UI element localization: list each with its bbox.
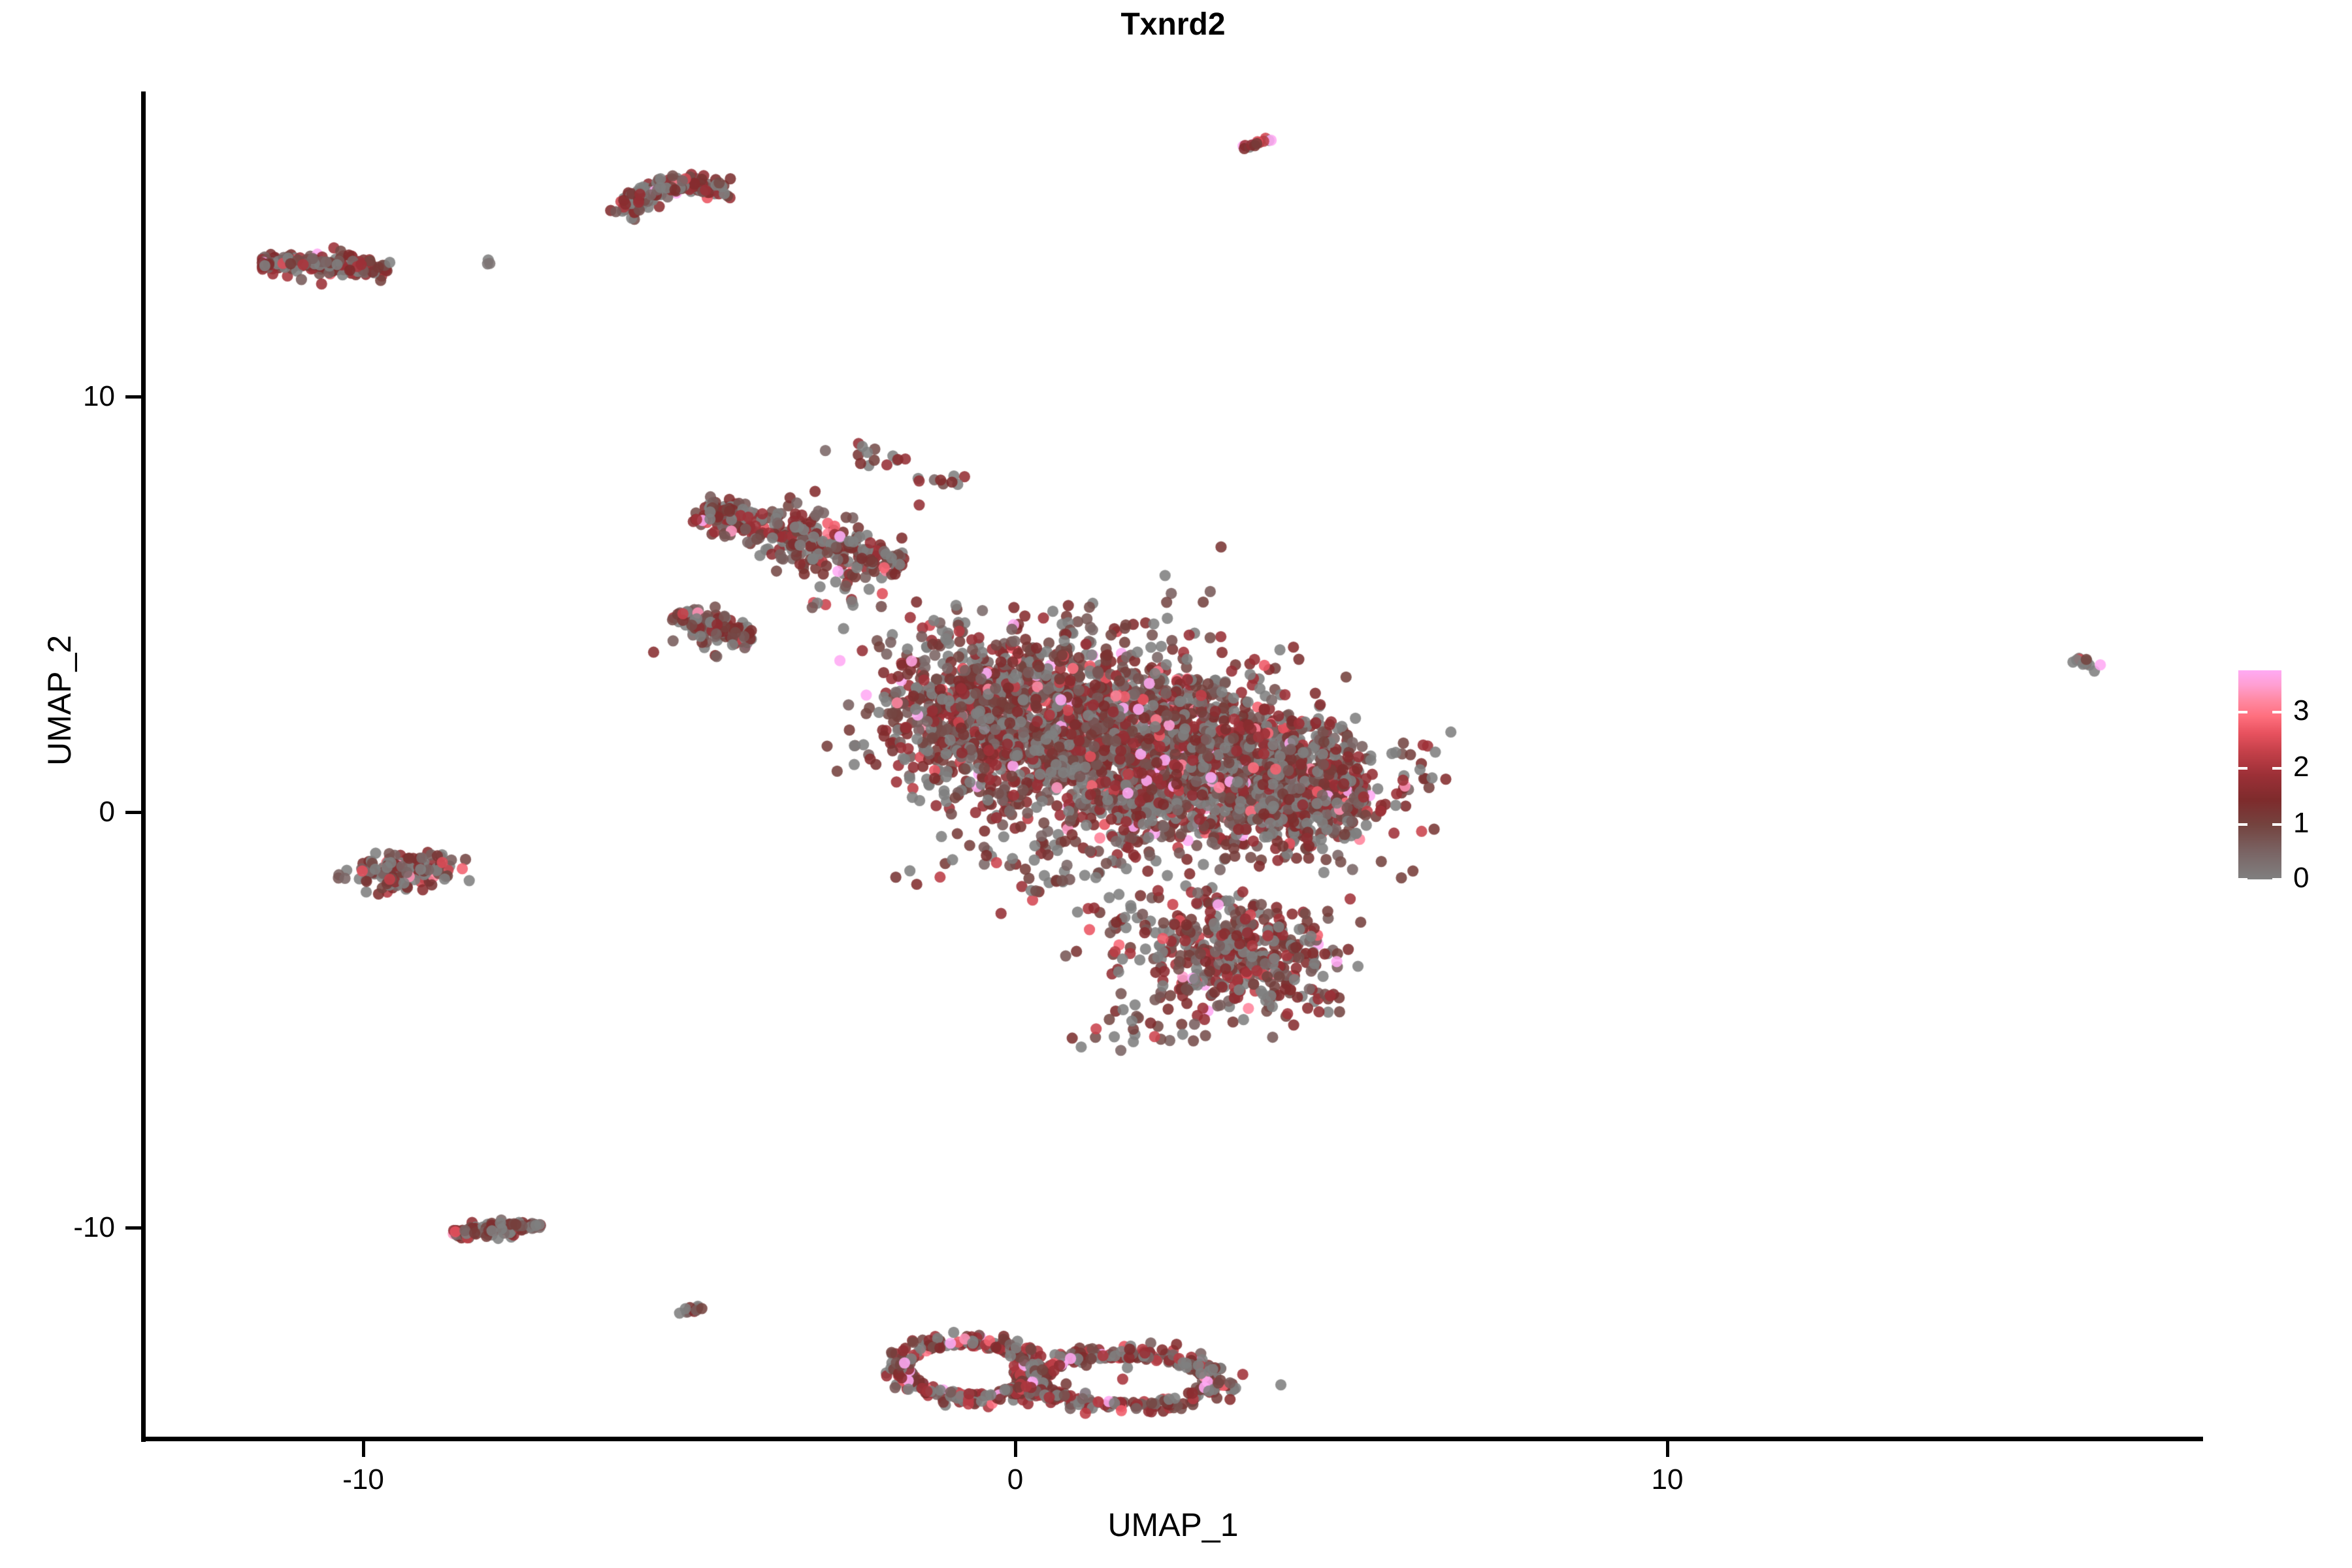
colorbar-tick-left-3 xyxy=(2238,711,2247,713)
x-axis-line xyxy=(141,1437,2203,1441)
colorbar-label-0: 0 xyxy=(2293,862,2309,894)
x-tick-mark-0 xyxy=(362,1441,365,1457)
colorbar-label-2: 2 xyxy=(2293,751,2309,783)
colorbar-label-1: 1 xyxy=(2293,807,2309,840)
colorbar-tick-right-2 xyxy=(2272,767,2281,770)
colorbar-tick-left-2 xyxy=(2238,767,2247,770)
colorbar-tick-left-1 xyxy=(2238,823,2247,826)
y-tick-label-2: -10 xyxy=(73,1211,115,1244)
y-tick-label-0: 10 xyxy=(83,380,115,413)
colorbar-gradient xyxy=(2238,670,2281,879)
x-tick-label-0: -10 xyxy=(342,1463,384,1496)
umap-scatter-canvas xyxy=(144,91,2202,1439)
plot-title-wrapper: Txnrd2 xyxy=(144,7,2202,42)
scatter-plot-panel xyxy=(144,91,2202,1439)
y-tick-label-1: 0 xyxy=(99,796,115,828)
colorbar-tick-right-0 xyxy=(2272,878,2281,881)
feature-plot-page: Txnrd2 -10 0 10 10 0 -10 UMAP_1 UMAP_2 3… xyxy=(0,0,2352,1568)
colorbar-tick-right-1 xyxy=(2272,823,2281,826)
colorbar-tick-left-0 xyxy=(2238,878,2247,881)
x-axis-title: UMAP_1 xyxy=(144,1506,2202,1544)
page-title: Txnrd2 xyxy=(1120,7,1225,42)
x-tick-mark-2 xyxy=(1666,1441,1669,1457)
x-tick-label-1: 0 xyxy=(1007,1463,1023,1496)
x-tick-label-2: 10 xyxy=(1652,1463,1684,1496)
y-tick-mark-0 xyxy=(125,395,141,399)
y-axis-line xyxy=(141,91,146,1442)
color-legend: 3 2 1 0 xyxy=(2238,670,2336,886)
y-axis-title: UMAP_2 xyxy=(41,635,78,766)
colorbar-tick-right-3 xyxy=(2272,711,2281,713)
y-tick-mark-2 xyxy=(125,1226,141,1230)
y-tick-mark-1 xyxy=(125,811,141,814)
x-tick-mark-1 xyxy=(1014,1441,1017,1457)
colorbar-label-3: 3 xyxy=(2293,694,2309,727)
